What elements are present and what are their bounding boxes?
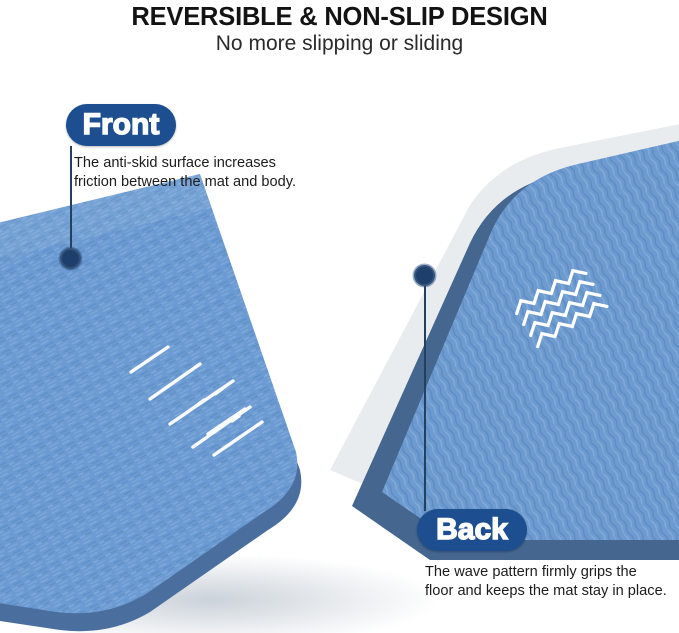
page-title: REVERSIBLE & NON-SLIP DESIGN [0, 0, 679, 32]
front-leader-line [70, 146, 72, 256]
front-pointer-dot-icon [60, 248, 81, 269]
mats-svg [0, 0, 679, 633]
page-subtitle: No more slipping or sliding [0, 31, 679, 57]
product-infographic: REVERSIBLE & NON-SLIP DESIGN No more sli… [0, 0, 679, 633]
back-leader-line [424, 283, 426, 511]
back-pointer-dot-icon [414, 265, 435, 286]
back-mat [330, 120, 679, 560]
product-illustration [0, 0, 679, 633]
front-badge: Front [66, 104, 176, 146]
back-badge: Back [417, 509, 527, 551]
back-description: The wave pattern firmly grips the floor … [425, 563, 679, 601]
front-description: The anti-skid surface increases friction… [74, 154, 354, 192]
